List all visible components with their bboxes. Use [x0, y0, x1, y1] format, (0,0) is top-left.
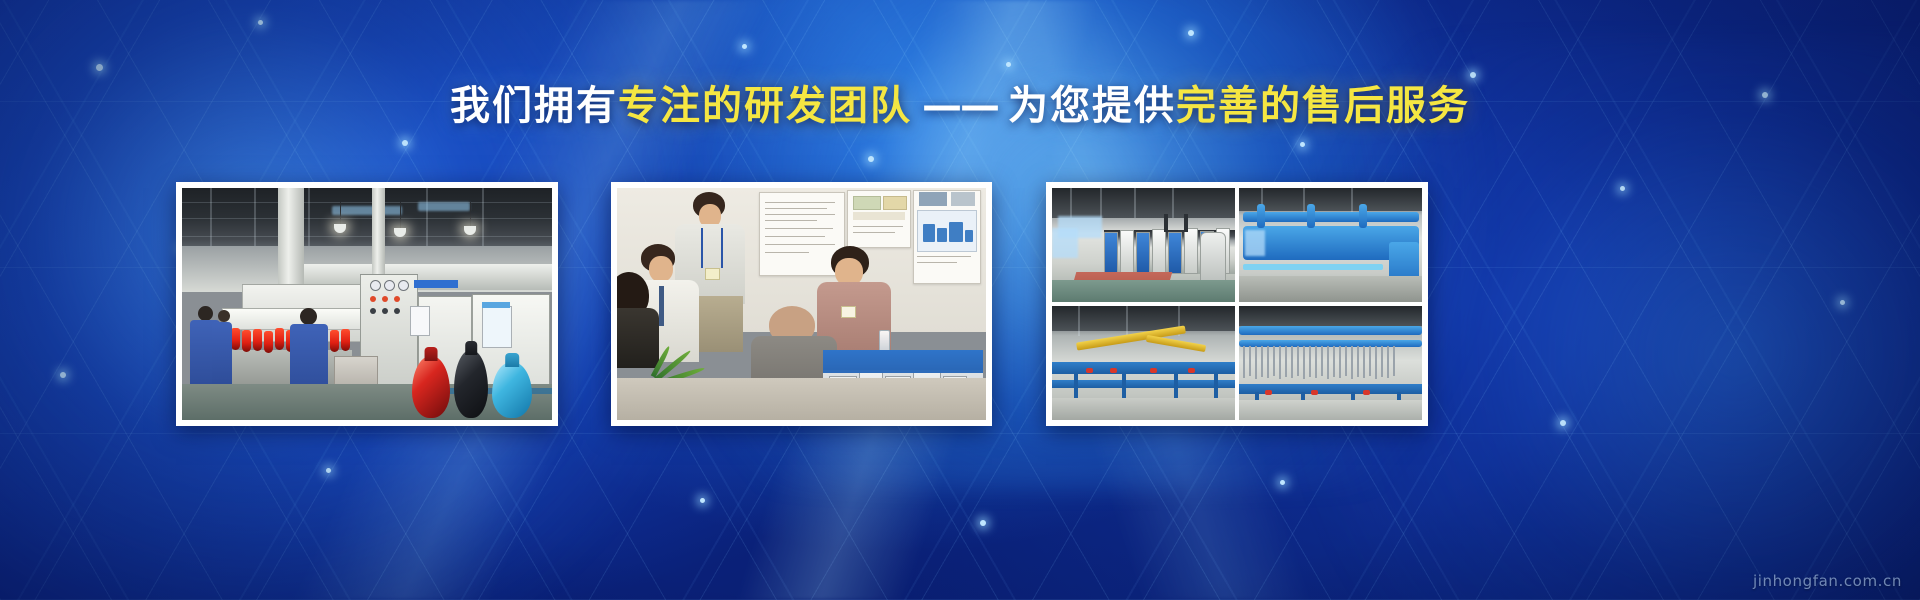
site-watermark: jinhongfan.com.cn — [1753, 572, 1902, 590]
photo-quadrant-blue-ducting — [1239, 188, 1422, 302]
headline-part-2: 专注的研发团队 — [618, 86, 912, 126]
promo-banner: 我们拥有专注的研发团队——为您提供完善的售后服务 — [0, 0, 1920, 600]
photo-card-workshop-composite[interactable] — [1046, 182, 1428, 426]
photo-meeting-room — [617, 188, 986, 420]
headline-part-1: 我们拥有 — [450, 86, 618, 126]
headline-part-4: 完善的售后服务 — [1176, 86, 1470, 126]
overlay-vase-red — [412, 356, 450, 418]
photo-production-line — [182, 188, 552, 420]
photo-quadrant-hanger-line — [1239, 306, 1422, 420]
banner-headline: 我们拥有专注的研发团队——为您提供完善的售后服务 — [0, 84, 1920, 126]
photo-quadrant-conveyor — [1052, 306, 1235, 420]
photo-gallery — [0, 182, 1920, 414]
headline-dash: —— — [912, 86, 1008, 126]
photo-card-production-line[interactable] — [176, 182, 558, 426]
overlay-vase-dark — [454, 350, 488, 418]
photo-workshop-composite — [1052, 188, 1422, 420]
overlay-vase-cyan — [492, 362, 532, 418]
photo-quadrant-coating-line — [1052, 188, 1235, 302]
photo-card-meeting-room[interactable] — [611, 182, 992, 426]
headline-part-3: 为您提供 — [1008, 86, 1176, 126]
